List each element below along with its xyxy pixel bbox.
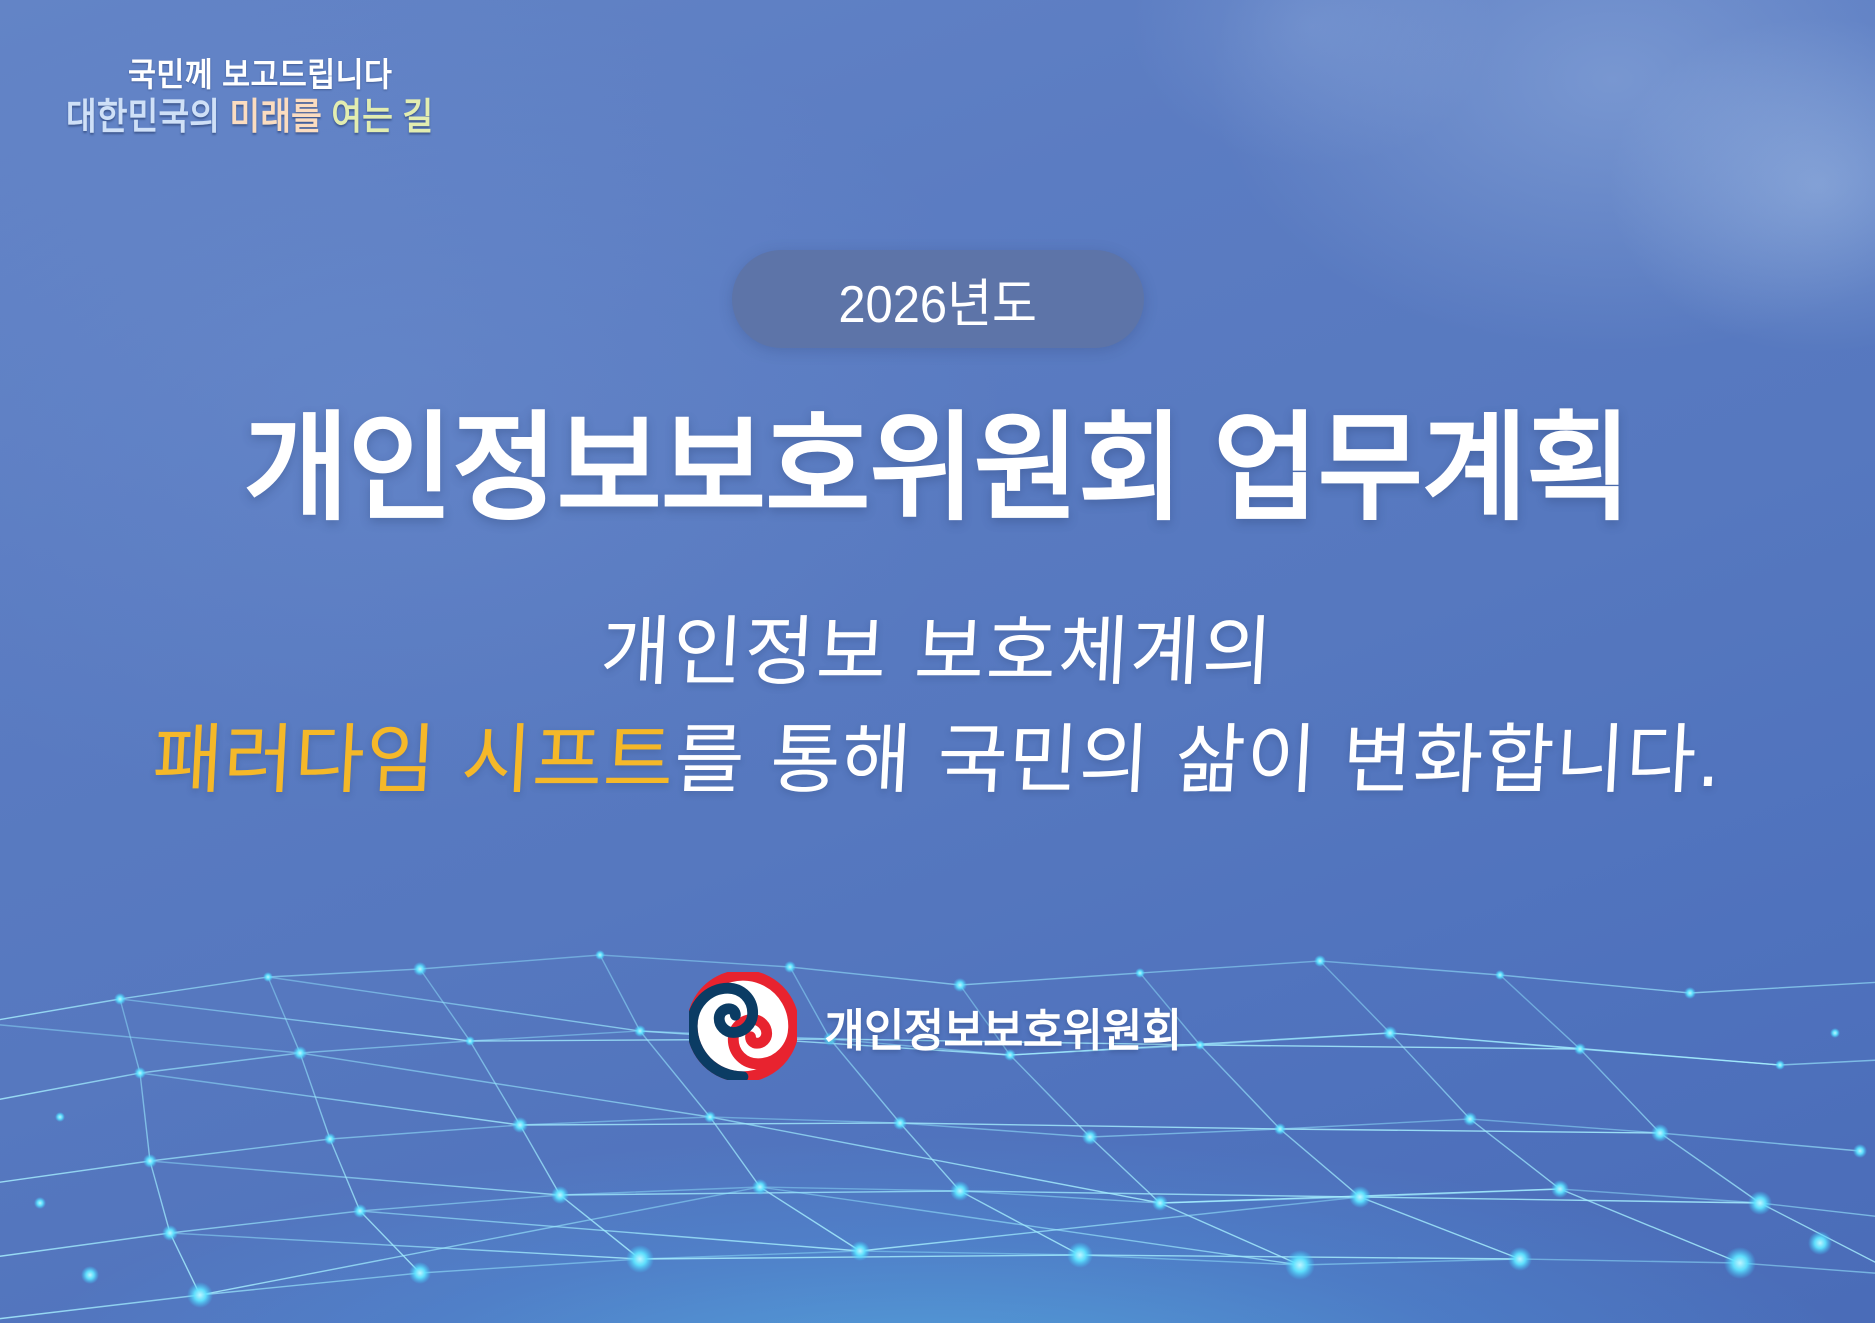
network-glow — [0, 1053, 1875, 1323]
page-title: 개인정보보호위원회 업무계획 — [0, 372, 1875, 543]
organization-name: 개인정보보호위원회 — [824, 994, 1181, 1059]
slogan-block: 국민께 보고드립니다 대한민국의 미래를 여는 길 — [66, 58, 474, 135]
year-badge-label: 2026년도 — [838, 262, 1037, 337]
network-mesh-graphic — [0, 903, 1875, 1323]
slogan-segment-country: 대한민국의 — [66, 96, 230, 137]
slogan-line-1: 국민께 보고드립니다 — [128, 58, 446, 92]
subtitle-line-2: 패러다임 시프트를 통해 국민의 삶이 변화합니다. — [0, 706, 1875, 814]
subtitle-line-1: 개인정보 보호체계의 — [0, 598, 1875, 706]
slogan-segment-path: 여는 길 — [331, 96, 433, 137]
year-badge: 2026년도 — [732, 250, 1144, 348]
logo-lockup: 개인정보보호위원회 — [688, 972, 1186, 1080]
slogan-segment-future: 미래를 — [230, 96, 332, 137]
subtitle-block: 개인정보 보호체계의 패러다임 시프트를 통해 국민의 삶이 변화합니다. — [0, 598, 1875, 814]
korea-government-taegeuk-emblem-icon — [688, 972, 796, 1080]
presentation-cover-slide: 국민께 보고드립니다 대한민국의 미래를 여는 길 2026년도 개인정보보호위… — [0, 0, 1875, 1323]
subtitle-highlight-paradigm-shift: 패러다임 시프트 — [151, 715, 677, 804]
slogan-line-2: 대한민국의 미래를 여는 길 — [66, 98, 433, 136]
page-title-text: 개인정보보호위원회 업무계획 — [244, 372, 1631, 543]
subtitle-line-2-rest: 를 통해 국민의 삶이 변화합니다. — [672, 715, 1724, 804]
